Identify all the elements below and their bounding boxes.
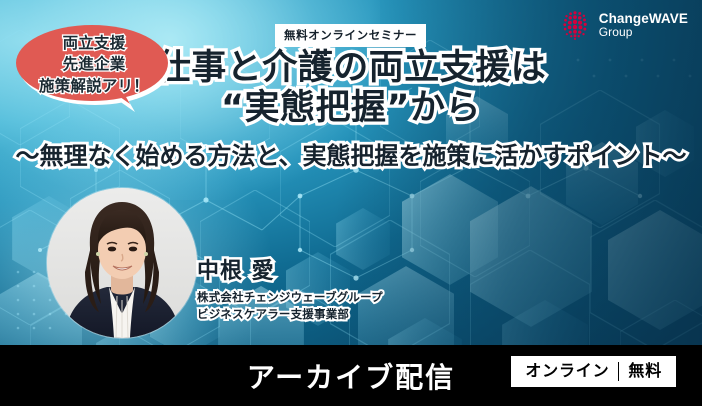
delivery-badge: オンライン 無料 [511,356,676,387]
free-seminar-label: 無料オンラインセミナー [275,24,426,47]
speaker-department: ビジネスケアラー支援事業部 [197,306,383,324]
seminar-banner: ChangeWAVE Group 両立支援 先進企業 施策解説アリ！ 無料オンラ… [0,0,702,406]
badge-online-label: オンライン [525,361,609,381]
bottom-bar: アーカイブ配信 オンライン 無料 [0,345,702,406]
bubble-line-3: 施策解説アリ！ [14,76,174,97]
badge-free-label: 無料 [628,361,662,381]
speaker-name: 中根 愛 [197,258,383,286]
badge-divider [618,362,619,381]
logo-line-1: ChangeWAVE [599,12,688,26]
speaker-info: 中根 愛 株式会社チェンジウェーブグループ ビジネスケアラー支援事業部 [197,258,383,324]
logo-wordmark: ChangeWAVE Group [599,12,688,39]
changewave-sphere-icon [558,8,592,42]
bubble-line-2: 先進企業 [14,54,174,75]
speech-bubble-text: 両立支援 先進企業 施策解説アリ！ [14,33,174,97]
promo-speech-bubble: 両立支援 先進企業 施策解説アリ！ [14,24,174,112]
logo-line-2: Group [599,26,688,39]
speaker-photo [47,188,197,338]
bubble-line-1: 両立支援 [14,33,174,54]
speaker-company: 株式会社チェンジウェーブグループ [197,289,383,307]
changewave-logo: ChangeWAVE Group [558,8,688,42]
